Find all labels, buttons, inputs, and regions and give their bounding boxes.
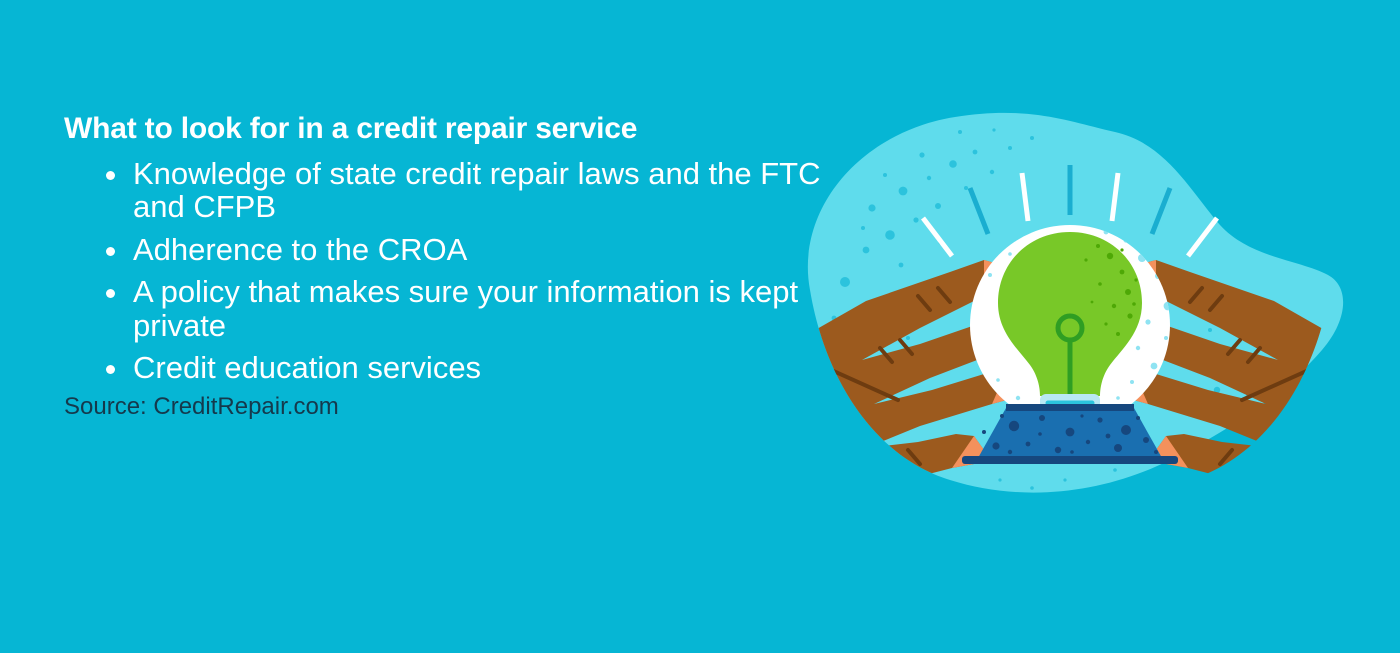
bullet-dot-icon [106,171,115,180]
page-title: What to look for in a credit repair serv… [64,112,824,145]
list-item-label: Knowledge of state credit repair laws an… [133,156,821,224]
bullet-dot-icon [106,365,115,374]
bullet-dot-icon [106,289,115,298]
source-attribution: Source: CreditRepair.com [64,394,824,420]
infographic-canvas: What to look for in a credit repair serv… [0,0,1400,653]
list-item: Adherence to the CROA [64,233,824,266]
list-item: Credit education services [64,351,824,384]
list-item: A policy that makes sure your informatio… [64,275,824,342]
list-item: Knowledge of state credit repair laws an… [64,157,824,224]
bullet-dot-icon [106,247,115,256]
list-item-label: Credit education services [133,350,481,385]
text-column: What to look for in a credit repair serv… [64,112,824,420]
crystal-ball-illustration [770,60,1370,530]
bullet-list: Knowledge of state credit repair laws an… [64,157,824,385]
list-item-label: Adherence to the CROA [133,232,467,267]
list-item-label: A policy that makes sure your informatio… [133,274,798,342]
